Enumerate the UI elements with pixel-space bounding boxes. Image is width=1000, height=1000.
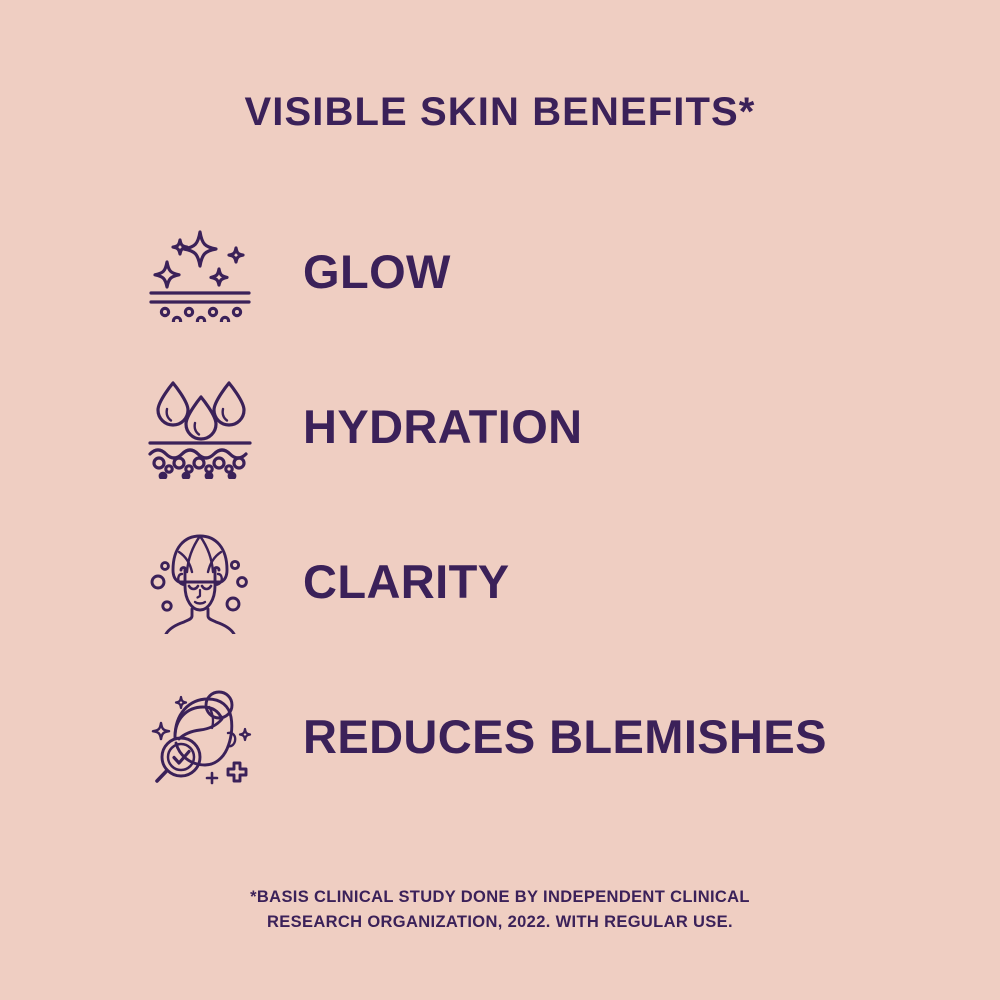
benefit-label-hydration: HYDRATION	[303, 403, 583, 450]
face-towel-wrap-icon	[140, 527, 260, 637]
benefits-list: GLOW	[130, 194, 870, 814]
page-title: VISIBLE SKIN BENEFITS*	[245, 92, 756, 132]
face-magnifier-check-icon	[140, 682, 260, 792]
skin-sparkle-icon	[140, 217, 260, 327]
benefit-item-clarity: CLARITY	[130, 504, 870, 659]
benefit-label-reduces-blemishes: REDUCES BLEMISHES	[303, 713, 827, 760]
footnote-line-1: *BASIS CLINICAL STUDY DONE BY INDEPENDEN…	[0, 885, 1000, 910]
skin-benefits-infographic: VISIBLE SKIN BENEFITS*	[0, 0, 1000, 1000]
benefit-label-clarity: CLARITY	[303, 558, 509, 605]
footnote: *BASIS CLINICAL STUDY DONE BY INDEPENDEN…	[0, 885, 1000, 935]
footnote-line-2: RESEARCH ORGANIZATION, 2022. WITH REGULA…	[0, 910, 1000, 935]
benefit-item-hydration: HYDRATION	[130, 349, 870, 504]
water-droplets-skin-icon	[140, 372, 260, 482]
benefit-label-glow: GLOW	[303, 248, 451, 295]
benefit-item-reduces-blemishes: REDUCES BLEMISHES	[130, 659, 870, 814]
benefit-item-glow: GLOW	[130, 194, 870, 349]
